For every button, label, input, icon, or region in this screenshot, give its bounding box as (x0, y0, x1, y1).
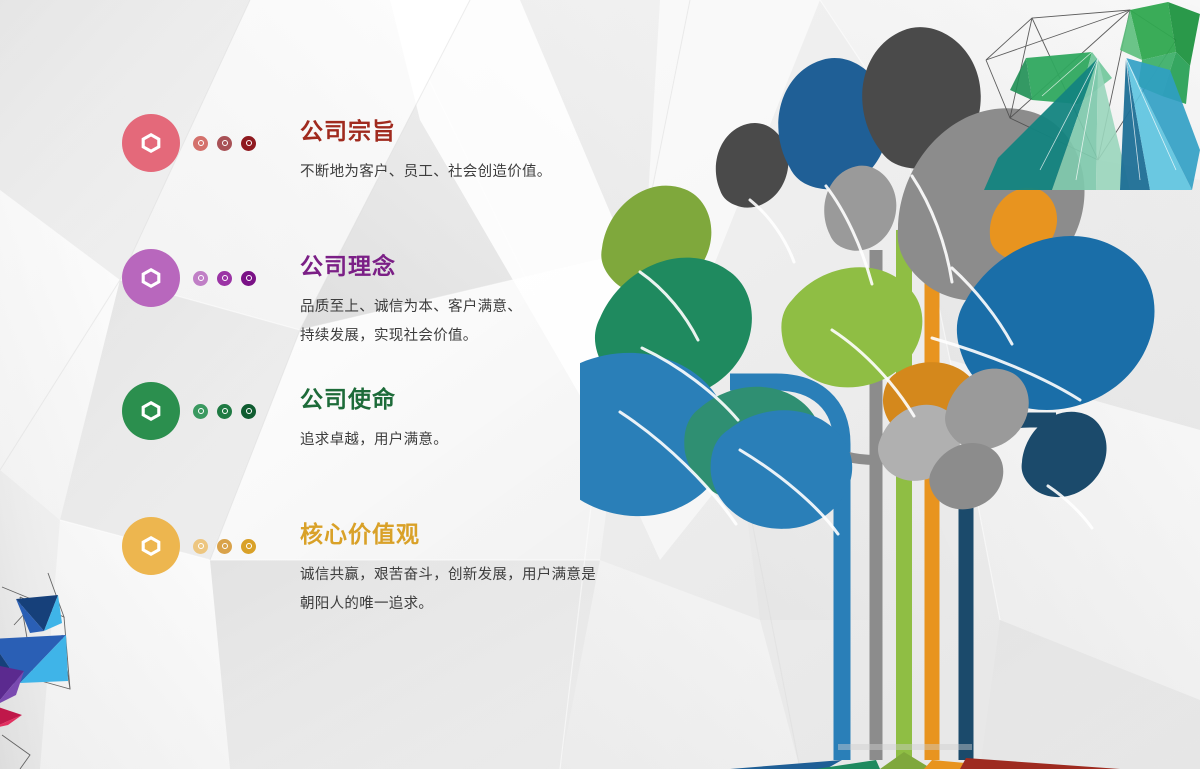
dot-1 (193, 136, 208, 151)
block-title: 公司理念 (300, 254, 522, 279)
dot-3 (241, 539, 256, 554)
block-body: 品质至上、诚信为本、客户满意、 持续发展，实现社会价值。 (300, 293, 522, 350)
hexagon-icon (140, 400, 162, 422)
block-body: 诚信共赢，艰苦奋斗，创新发展，用户满意是 朝阳人的唯一追求。 (300, 561, 596, 618)
dot-1 (193, 404, 208, 419)
dot-2 (217, 404, 232, 419)
marker-company-philosophy (122, 248, 250, 308)
text-column: 公司宗旨 不断地为客户、员工、社会创造价值。 (300, 113, 552, 187)
hexagon-badge-icon (122, 382, 180, 440)
dot-2 (217, 539, 232, 554)
dot-group (193, 404, 256, 419)
content-block-company-philosophy[interactable]: 公司理念 品质至上、诚信为本、客户满意、 持续发展，实现社会价值。 (122, 248, 522, 350)
block-title: 公司使命 (300, 387, 448, 412)
block-title: 核心价值观 (300, 522, 596, 547)
content-block-company-purpose[interactable]: 公司宗旨 不断地为客户、员工、社会创造价值。 (122, 113, 552, 187)
slide-canvas: 公司宗旨 不断地为客户、员工、社会创造价值。 (0, 0, 1200, 769)
dot-2 (217, 271, 232, 286)
marker-company-mission (122, 381, 250, 441)
dot-1 (193, 539, 208, 554)
text-column: 核心价值观 诚信共赢，艰苦奋斗，创新发展，用户满意是 朝阳人的唯一追求。 (300, 516, 596, 618)
block-title: 公司宗旨 (300, 119, 552, 144)
content-block-company-mission[interactable]: 公司使命 追求卓越，用户满意。 (122, 381, 448, 455)
dot-2 (217, 136, 232, 151)
body-line: 追求卓越，用户满意。 (300, 426, 448, 454)
hexagon-icon (140, 132, 162, 154)
body-line: 不断地为客户、员工、社会创造价值。 (300, 158, 552, 186)
dot-group (193, 136, 256, 151)
block-body: 不断地为客户、员工、社会创造价值。 (300, 158, 552, 186)
body-line: 品质至上、诚信为本、客户满意、 (300, 293, 522, 321)
content-block-core-values[interactable]: 核心价值观 诚信共赢，艰苦奋斗，创新发展，用户满意是 朝阳人的唯一追求。 (122, 516, 596, 618)
dot-group (193, 539, 256, 554)
dot-3 (241, 404, 256, 419)
dot-group (193, 271, 256, 286)
body-line: 诚信共赢，艰苦奋斗，创新发展，用户满意是 (300, 561, 596, 589)
hexagon-badge-icon (122, 249, 180, 307)
dot-3 (241, 271, 256, 286)
marker-core-values (122, 516, 250, 576)
dot-1 (193, 271, 208, 286)
text-column: 公司理念 品质至上、诚信为本、客户满意、 持续发展，实现社会价值。 (300, 248, 522, 350)
hexagon-badge-icon (122, 517, 180, 575)
body-line: 持续发展，实现社会价值。 (300, 322, 522, 350)
hexagon-icon (140, 267, 162, 289)
top-right-polygon-decoration (980, 0, 1200, 190)
dot-3 (241, 136, 256, 151)
body-line: 朝阳人的唯一追求。 (300, 590, 596, 618)
hexagon-icon (140, 535, 162, 557)
text-column: 公司使命 追求卓越，用户满意。 (300, 381, 448, 455)
marker-company-purpose (122, 113, 250, 173)
content-blocks: 公司宗旨 不断地为客户、员工、社会创造价值。 (0, 0, 660, 769)
hexagon-badge-icon (122, 114, 180, 172)
block-body: 追求卓越，用户满意。 (300, 426, 448, 454)
